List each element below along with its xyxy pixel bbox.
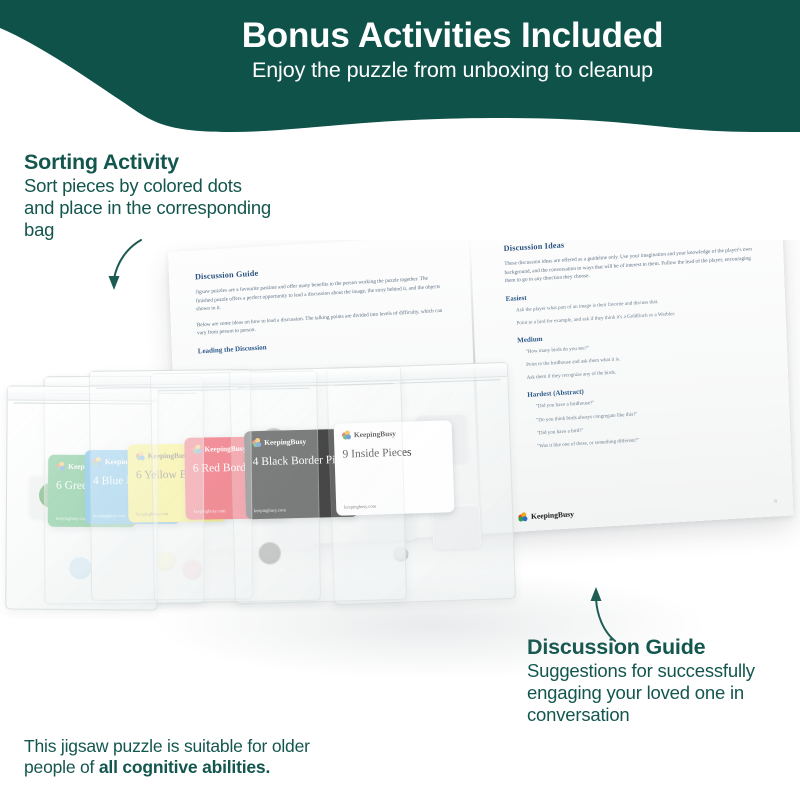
keepingbusy-wordmark: KeepingBusy xyxy=(204,444,246,454)
keepingbusy-logo-icon xyxy=(192,445,201,454)
keepingbusy-logo-icon xyxy=(93,457,102,466)
bag-zip-line xyxy=(14,403,152,405)
label-url: keepingbusy.com xyxy=(344,504,376,510)
label-url: keepingbusy.com xyxy=(136,511,168,516)
keepingbusy-logo-icon xyxy=(56,462,65,471)
footer-note-bold: all cognitive abilities. xyxy=(99,757,270,777)
poster-canvas: Bonus Activities Included Enjoy the puzz… xyxy=(0,0,800,800)
sorting-callout-title: Sorting Activity xyxy=(24,150,274,175)
sorting-bags-group: KeepingBusy 6 Green Border Pieces keepin… xyxy=(0,240,800,760)
label-url: keepingbusy.com xyxy=(194,508,226,514)
label-url: keepingbusy.com xyxy=(93,513,125,518)
bag-zip-top xyxy=(8,386,158,401)
label-url: keepingbusy.com xyxy=(56,516,88,521)
sorting-activity-callout: Sorting Activity Sort pieces by colored … xyxy=(24,150,274,242)
keepingbusy-logo-icon xyxy=(342,430,351,439)
product-photo: Discussion Guide Jigsaw puzzles are a fa… xyxy=(0,240,800,760)
label-white-inside[interactable]: KeepingBusy 9 Inside Pieces keepingbusy.… xyxy=(334,420,455,516)
keepingbusy-wordmark: KeepingBusy xyxy=(148,451,190,460)
keepingbusy-wordmark: KeepingBusy xyxy=(354,429,396,439)
label-url: keepingbusy.com xyxy=(254,507,286,513)
keepingbusy-wordmark: KeepingBusy xyxy=(264,437,306,447)
keepingbusy-logo-icon xyxy=(136,451,145,460)
label-brand-row: KeepingBusy xyxy=(342,427,444,439)
keepingbusy-logo-icon xyxy=(252,438,261,447)
label-text: 9 Inside Pieces xyxy=(342,445,444,461)
